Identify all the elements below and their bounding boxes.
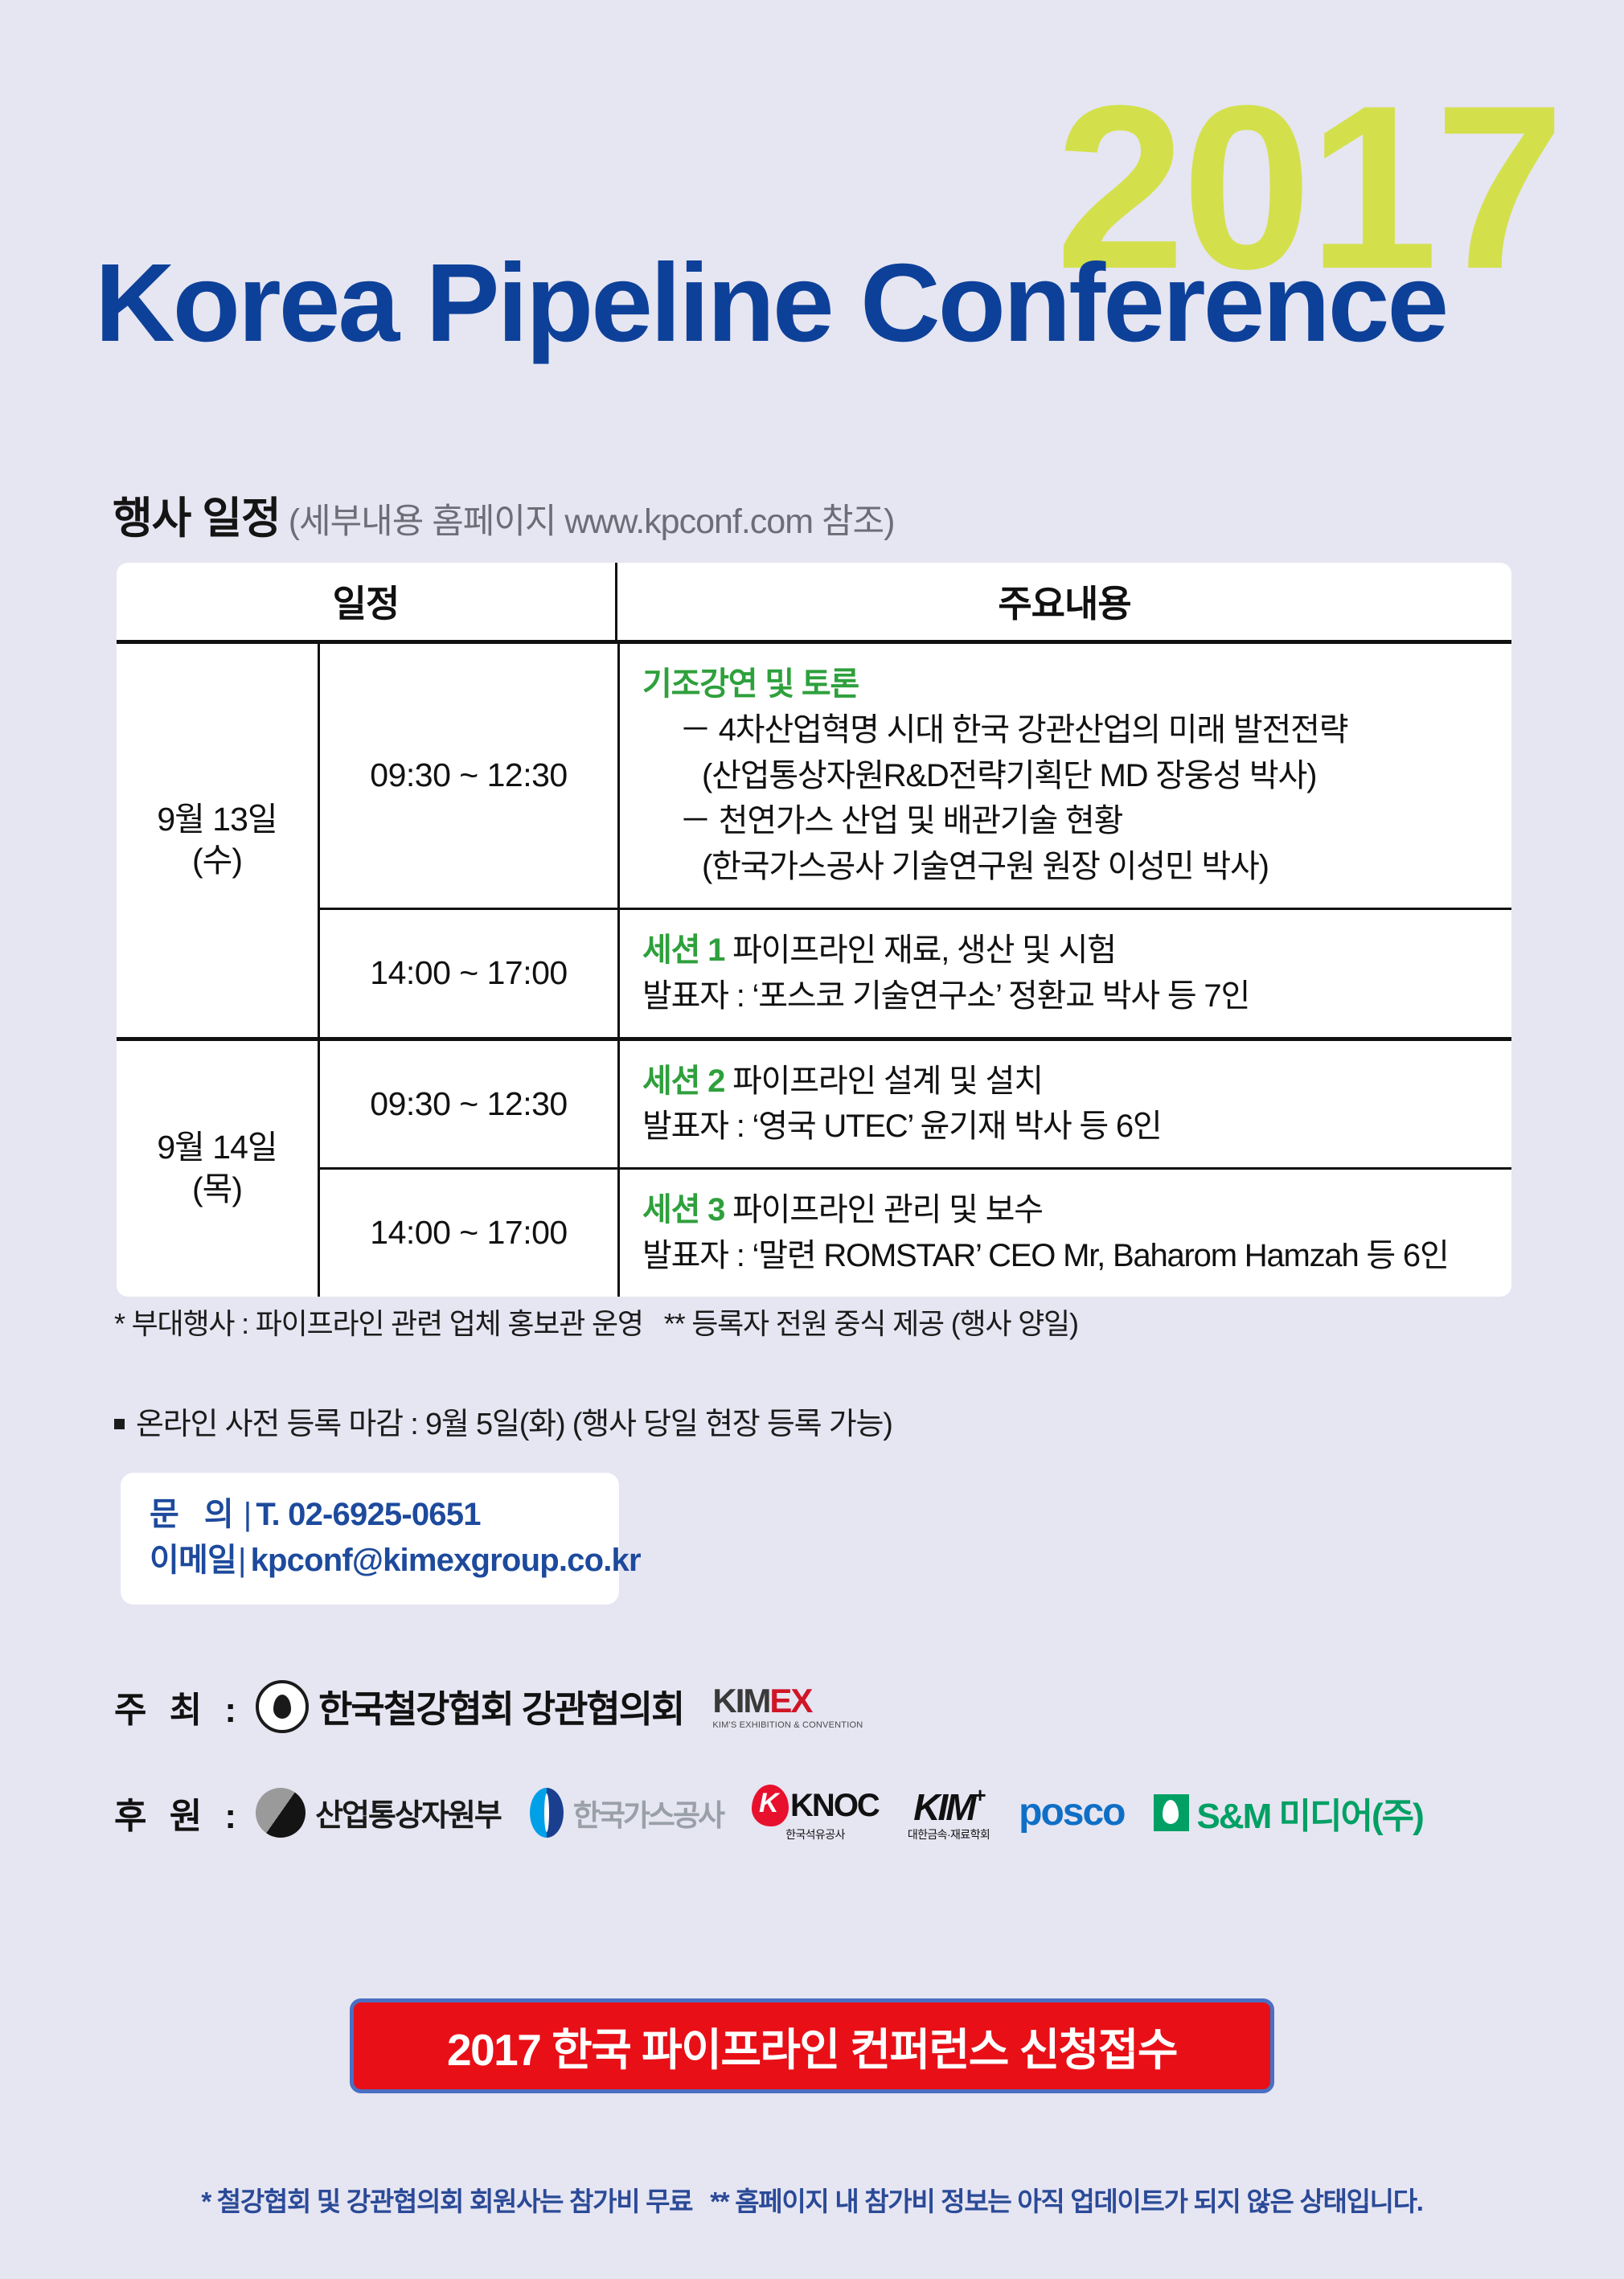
content-cell: 기조강연 및 토론 － 4차산업혁명 시대 한국 강관산업의 미래 발전전략 (… bbox=[620, 644, 1511, 908]
organizers-label: 주 최 : bbox=[114, 1681, 243, 1732]
table-row: 14:00 ~ 17:00 세션 3 파이프라인 관리 및 보수 발표자 : ‘… bbox=[320, 1167, 1511, 1297]
kim-plus: + bbox=[974, 1783, 984, 1807]
schedule-table: 일정 주요내용 9월 13일 (수) 09:30 ~ 12:30 기조강연 및 … bbox=[117, 563, 1511, 1297]
table-header-row: 일정 주요내용 bbox=[117, 563, 1511, 644]
register-button[interactable]: 2017 한국 파이프라인 컨퍼런스 신청접수 bbox=[350, 1998, 1274, 2093]
logo-kim: KIM+ 대한금속·재료학회 bbox=[908, 1785, 990, 1840]
register-button-label: 2017 한국 파이프라인 컨퍼런스 신청접수 bbox=[447, 2014, 1177, 2078]
logo-kogas: 한국가스공사 bbox=[530, 1788, 723, 1838]
day-group: 9월 13일 (수) 09:30 ~ 12:30 기조강연 및 토론 － 4차산… bbox=[117, 644, 1511, 1037]
square-bullet-icon bbox=[114, 1419, 125, 1429]
session-title-line: 세션 1 파이프라인 재료, 생산 및 시험 bbox=[642, 928, 1503, 973]
kosa-seal-icon bbox=[256, 1680, 309, 1733]
column-header-content: 주요내용 bbox=[617, 563, 1511, 640]
session-topic: 파이프라인 재료, 생산 및 시험 bbox=[724, 933, 1116, 968]
content-line: (한국가스공사 기술연구원 원장 이성민 박사) bbox=[642, 844, 1503, 890]
kim-wordmark: KIM+ bbox=[913, 1785, 984, 1826]
contact-email-label: 이메일 bbox=[150, 1543, 236, 1578]
date-line-2: (목) bbox=[192, 1169, 242, 1210]
contact-separator: | bbox=[244, 1497, 252, 1532]
contact-phone-value[interactable]: T. 02-6925-0651 bbox=[256, 1497, 480, 1532]
day-group: 9월 14일 (목) 09:30 ~ 12:30 세션 2 파이프라인 설계 및… bbox=[117, 1037, 1511, 1297]
time-cell: 14:00 ~ 17:00 bbox=[320, 910, 620, 1037]
supporters-row: 후 원 : 산업통상자원부 한국가스공사 KNOC 한국석유공사 KIM+ 대한… bbox=[114, 1785, 1452, 1840]
contact-box: 문 의|T. 02-6925-0651 이메일|kpconf@kimexgrou… bbox=[121, 1473, 619, 1605]
kimex-tagline: KIM'S EXHIBITION & CONVENTION bbox=[712, 1721, 863, 1730]
content-line: (산업통상자원R&D전략기획단 MD 장웅성 박사) bbox=[642, 753, 1503, 799]
table-row: 09:30 ~ 12:30 세션 2 파이프라인 설계 및 설치 발표자 : ‘… bbox=[320, 1041, 1511, 1168]
schedule-heading-sub: (세부내용 홈페이지 www.kpconf.com 참조) bbox=[289, 502, 895, 541]
contact-separator: | bbox=[238, 1543, 246, 1578]
content-line: － 4차산업혁명 시대 한국 강관산업의 미래 발전전략 bbox=[642, 707, 1503, 753]
session-kicker: 세션 1 bbox=[642, 933, 724, 968]
motie-name: 산업통상자원부 bbox=[315, 1790, 501, 1834]
knoc-name: KNOC bbox=[790, 1789, 879, 1822]
registration-note: 온라인 사전 등록 마감 : 9월 5일(화) (행사 당일 현장 등록 가능) bbox=[114, 1399, 892, 1443]
footer-note: * 철강협회 및 강관협의회 회원사는 참가비 무료** 홈페이지 내 참가비 … bbox=[201, 2180, 1422, 2219]
masthead: 2017 Korea Pipeline Conference bbox=[0, 0, 1624, 418]
footnote-lunch: ** 등록자 전원 중식 제공 (행사 양일) bbox=[664, 1307, 1078, 1340]
conference-title: Korea Pipeline Conference bbox=[95, 248, 1446, 359]
sm-media-icon bbox=[1154, 1794, 1189, 1831]
session-kicker: 기조강연 및 토론 bbox=[642, 662, 1503, 707]
posco-wordmark: posco bbox=[1019, 1790, 1124, 1834]
kogas-name: 한국가스공사 bbox=[573, 1791, 723, 1834]
date-line-1: 9월 14일 bbox=[157, 1127, 277, 1168]
content-cell: 세션 1 파이프라인 재료, 생산 및 시험 발표자 : ‘포스코 기술연구소’… bbox=[620, 910, 1511, 1037]
content-cell: 세션 2 파이프라인 설계 및 설치 발표자 : ‘영국 UTEC’ 윤기재 박… bbox=[620, 1041, 1511, 1168]
contact-phone-line: 문 의|T. 02-6925-0651 bbox=[150, 1492, 619, 1538]
kim-sub: 대한금속·재료학회 bbox=[908, 1829, 990, 1840]
session-title-line: 세션 3 파이프라인 관리 및 보수 bbox=[642, 1187, 1503, 1233]
schedule-heading: 행사 일정(세부내용 홈페이지 www.kpconf.com 참조) bbox=[113, 482, 894, 546]
kim-name: KIM bbox=[913, 1786, 974, 1828]
knoc-icon bbox=[752, 1785, 789, 1826]
date-cell: 9월 13일 (수) bbox=[117, 644, 320, 1037]
table-row: 09:30 ~ 12:30 기조강연 및 토론 － 4차산업혁명 시대 한국 강… bbox=[320, 644, 1511, 908]
day-rows: 09:30 ~ 12:30 기조강연 및 토론 － 4차산업혁명 시대 한국 강… bbox=[320, 644, 1511, 1037]
kimex-part1: KIM bbox=[712, 1682, 769, 1719]
registration-note-text: 온라인 사전 등록 마감 : 9월 5일(화) (행사 당일 현장 등록 가능) bbox=[136, 1408, 892, 1441]
footnote-side-event: * 부대행사 : 파이프라인 관련 업체 홍보관 운영 bbox=[114, 1307, 643, 1340]
sm-media-name: S&M 미디어(주) bbox=[1197, 1787, 1423, 1838]
logo-kimex: KIMEX KIM'S EXHIBITION & CONVENTION bbox=[712, 1684, 863, 1730]
session-topic: 파이프라인 설계 및 설치 bbox=[724, 1064, 1043, 1099]
column-header-date: 일정 bbox=[117, 563, 617, 640]
content-cell: 세션 3 파이프라인 관리 및 보수 발표자 : ‘말련 ROMSTAR’ CE… bbox=[620, 1170, 1511, 1297]
time-cell: 09:30 ~ 12:30 bbox=[320, 644, 620, 908]
taegeuk-icon bbox=[256, 1788, 306, 1838]
schedule-heading-strong: 행사 일정 bbox=[113, 494, 281, 543]
date-cell: 9월 14일 (목) bbox=[117, 1041, 320, 1297]
kimex-part2: EX bbox=[769, 1682, 811, 1719]
logo-knoc: KNOC 한국석유공사 bbox=[752, 1785, 879, 1840]
contact-phone-label: 문 의 bbox=[150, 1497, 242, 1532]
date-line-2: (수) bbox=[192, 840, 242, 881]
session-title-line: 세션 2 파이프라인 설계 및 설치 bbox=[642, 1059, 1503, 1105]
date-line-1: 9월 13일 bbox=[157, 799, 277, 840]
content-line: 발표자 : ‘말련 ROMSTAR’ CEO Mr, Baharom Hamza… bbox=[642, 1233, 1503, 1279]
logo-kosa: 한국철강협회 강관협의회 bbox=[256, 1680, 683, 1733]
time-cell: 09:30 ~ 12:30 bbox=[320, 1041, 620, 1168]
content-line: － 천연가스 산업 및 배관기술 현황 bbox=[642, 798, 1503, 844]
time-cell: 14:00 ~ 17:00 bbox=[320, 1170, 620, 1297]
organizers-row: 주 최 : 한국철강협회 강관협의회 KIMEX KIM'S EXHIBITIO… bbox=[114, 1680, 892, 1733]
kimex-wordmark: KIMEX bbox=[712, 1684, 863, 1718]
logo-motie: 산업통상자원부 bbox=[256, 1788, 501, 1838]
logo-posco: posco bbox=[1019, 1790, 1124, 1834]
session-kicker: 세션 2 bbox=[642, 1064, 724, 1099]
session-topic: 파이프라인 관리 및 보수 bbox=[724, 1192, 1043, 1228]
content-line: 발표자 : ‘포스코 기술연구소’ 정환교 박사 등 7인 bbox=[642, 973, 1503, 1019]
footer-part-2: ** 홈페이지 내 참가비 정보는 아직 업데이트가 되지 않은 상태입니다. bbox=[710, 2187, 1422, 2216]
logo-sm-media: S&M 미디어(주) bbox=[1154, 1787, 1423, 1838]
kosa-name: 한국철강협회 강관협의회 bbox=[318, 1680, 683, 1733]
kogas-icon bbox=[530, 1788, 564, 1838]
footer-part-1: * 철강협회 및 강관협의회 회원사는 참가비 무료 bbox=[201, 2187, 692, 2216]
content-line: 발표자 : ‘영국 UTEC’ 윤기재 박사 등 6인 bbox=[642, 1104, 1503, 1150]
supporters-label: 후 원 : bbox=[114, 1787, 243, 1838]
contact-email-line: 이메일|kpconf@kimexgroup.co.kr bbox=[150, 1538, 619, 1584]
day-rows: 09:30 ~ 12:30 세션 2 파이프라인 설계 및 설치 발표자 : ‘… bbox=[320, 1041, 1511, 1297]
table-row: 14:00 ~ 17:00 세션 1 파이프라인 재료, 생산 및 시험 발표자… bbox=[320, 908, 1511, 1037]
knoc-sub: 한국석유공사 bbox=[785, 1829, 845, 1840]
session-kicker: 세션 3 bbox=[642, 1192, 724, 1228]
contact-email-value[interactable]: kpconf@kimexgroup.co.kr bbox=[251, 1543, 641, 1578]
table-footnotes: * 부대행사 : 파이프라인 관련 업체 홍보관 운영** 등록자 전원 중식 … bbox=[114, 1301, 1078, 1342]
